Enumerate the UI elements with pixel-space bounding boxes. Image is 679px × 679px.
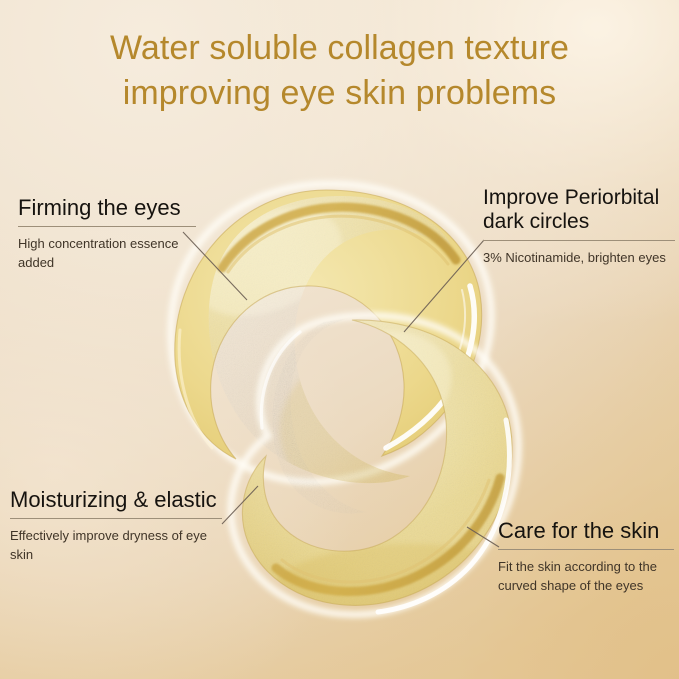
callout-heading: Improve Periorbital dark circles [483, 186, 675, 234]
callout-heading: Firming the eyes [18, 196, 196, 220]
callout-subtext: Fit the skin according to the curved sha… [498, 557, 674, 595]
page-title-line-1: Water soluble collagen texture [0, 26, 679, 71]
infographic-canvas: Water soluble collagen texture improving… [0, 0, 679, 679]
page-title: Water soluble collagen texture improving… [0, 26, 679, 116]
callout-rule [498, 549, 674, 550]
callout-subtext: High concentration essence added [18, 234, 196, 272]
callout-rule [18, 226, 196, 227]
callout-heading: Moisturizing & elastic [10, 488, 222, 512]
callout-subtext: 3% Nicotinamide, brighten eyes [483, 248, 675, 267]
callout-heading: Care for the skin [498, 519, 674, 543]
callout-rule [483, 240, 675, 241]
page-title-line-2: improving eye skin problems [0, 71, 679, 116]
callout-subtext: Effectively improve dryness of eye skin [10, 526, 222, 564]
callout-rule [10, 518, 222, 519]
callout-firming-the-eyes: Firming the eyes High concentration esse… [18, 196, 196, 272]
callout-care-for-the-skin: Care for the skin Fit the skin according… [498, 519, 674, 595]
callout-improve-periorbital-dark-circles: Improve Periorbital dark circles 3% Nico… [483, 186, 675, 267]
callout-moisturizing-and-elastic: Moisturizing & elastic Effectively impro… [10, 488, 222, 564]
